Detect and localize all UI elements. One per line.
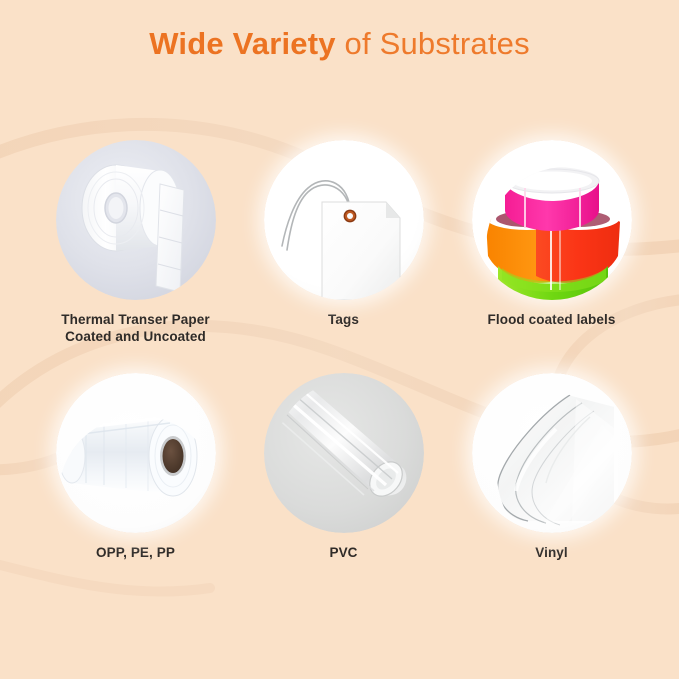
grid-item-pvc[interactable]: PVC: [240, 373, 448, 562]
infographic-canvas: Wide Variety of Substrates: [0, 0, 679, 679]
page-title-light: of Substrates: [336, 26, 530, 61]
grid-item-thermal-transfer-paper[interactable]: Thermal Transer Paper Coated and Uncoate…: [32, 140, 240, 346]
substrates-row-top: Thermal Transer Paper Coated and Uncoate…: [0, 140, 679, 345]
grid-item-vinyl[interactable]: Vinyl: [448, 373, 656, 562]
plastic-film-roll-icon: [56, 373, 216, 533]
page-title-strong: Wide Variety: [149, 26, 335, 61]
grid-item-caption: OPP, PE, PP: [96, 545, 175, 562]
grid-item-caption: Thermal Transer Paper Coated and Uncoate…: [61, 312, 209, 346]
grid-item-tags[interactable]: Tags: [240, 140, 448, 329]
grid-item-caption: Flood coated labels: [488, 312, 616, 329]
grid-item-caption: Vinyl: [535, 545, 568, 562]
substrates-grid: Thermal Transer Paper Coated and Uncoate…: [0, 140, 679, 578]
caption-line-1: PVC: [329, 545, 357, 560]
caption-line-1: Thermal Transer Paper: [61, 312, 209, 327]
grid-item-caption: PVC: [329, 545, 357, 562]
page-title: Wide Variety of Substrates: [0, 26, 679, 62]
caption-line-1: Flood coated labels: [488, 312, 616, 327]
label-roll-icon: [56, 140, 216, 300]
caption-line-1: OPP, PE, PP: [96, 545, 175, 560]
pvc-sheet-icon: [264, 373, 424, 533]
hang-tag-icon: [264, 140, 424, 300]
colored-label-rolls-icon: [472, 140, 632, 300]
caption-line-2: Coated and Uncoated: [61, 329, 209, 346]
substrates-row-bottom: OPP, PE, PP: [0, 373, 679, 578]
caption-line-1: Vinyl: [535, 545, 568, 560]
caption-line-1: Tags: [328, 312, 359, 327]
grid-item-flood-coated-labels[interactable]: Flood coated labels: [448, 140, 656, 329]
grid-item-caption: Tags: [328, 312, 359, 329]
vinyl-roll-icon: [472, 373, 632, 533]
grid-item-opp-pe-pp[interactable]: OPP, PE, PP: [32, 373, 240, 562]
